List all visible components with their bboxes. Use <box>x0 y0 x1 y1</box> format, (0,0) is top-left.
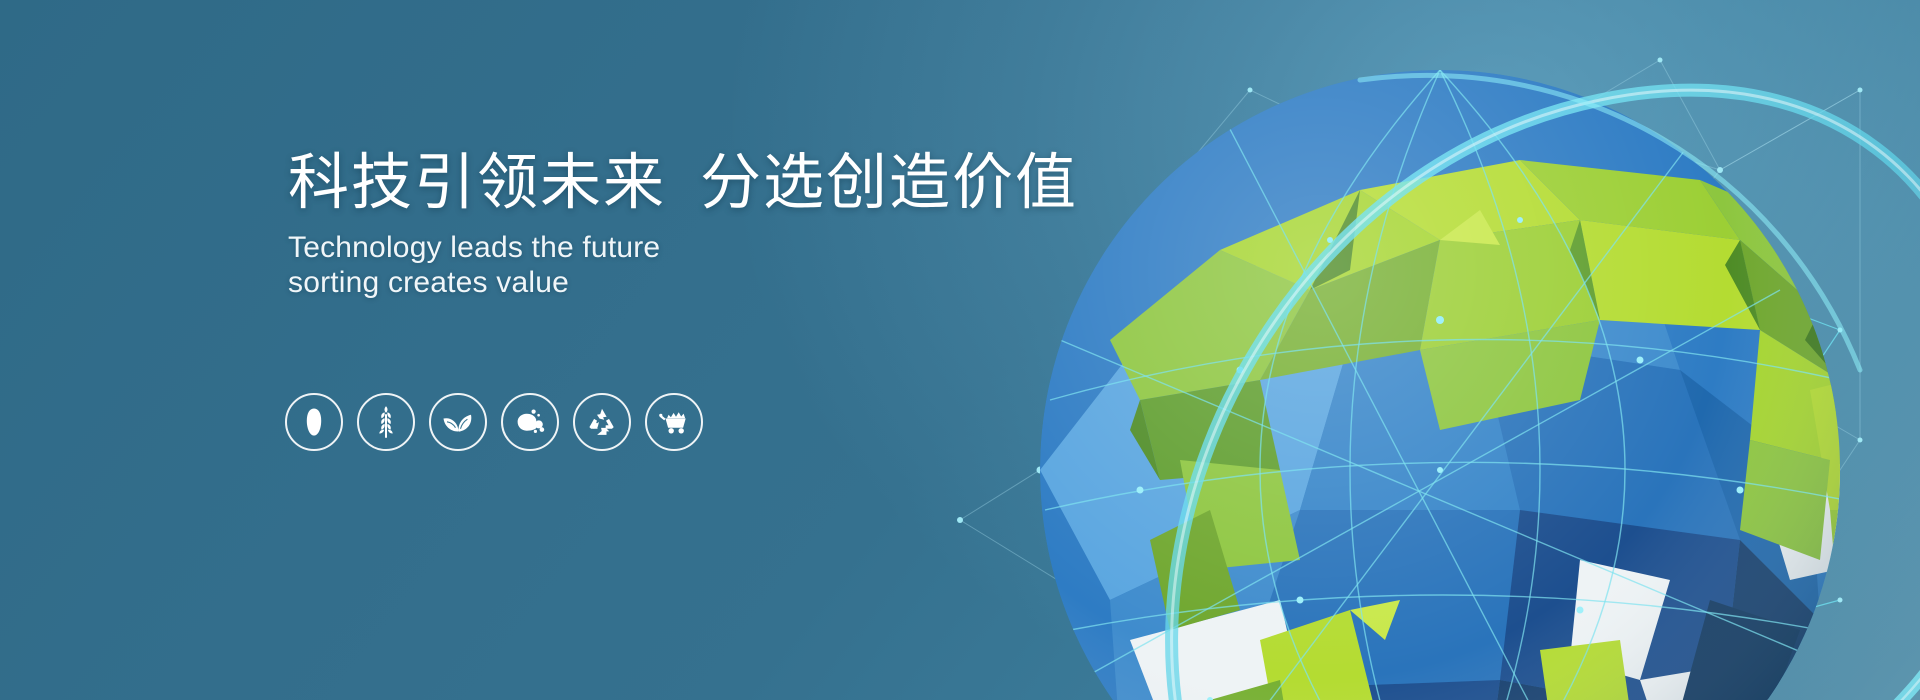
icon-chip-nut-bean[interactable] <box>501 393 559 451</box>
icon-chip-tea-leaf[interactable] <box>429 393 487 451</box>
headline-part-2: 分选创造价值 <box>700 148 1078 216</box>
icon-chip-rice-grain[interactable] <box>285 393 343 451</box>
subtitle-line-2: sorting creates value <box>288 265 1008 300</box>
subtitle-line-1: Technology leads the future <box>288 230 1008 265</box>
icon-chip-recycle[interactable] <box>573 393 631 451</box>
recycle-icon <box>587 407 617 437</box>
wheat-ear-icon <box>372 405 400 439</box>
banner-copy: 科技引领未来分选创造价值 Technology leads the future… <box>288 150 1008 300</box>
network-mesh-background <box>0 0 1920 700</box>
tea-leaf-icon <box>441 409 475 435</box>
page-subtitle: Technology leads the future sorting crea… <box>288 230 1008 300</box>
icon-chip-wheat-ear[interactable] <box>357 393 415 451</box>
low-poly-globe <box>880 40 1920 700</box>
nut-bean-icon <box>514 408 546 436</box>
hero-banner: 科技引领未来分选创造价值 Technology leads the future… <box>0 0 1920 700</box>
headline-part-1: 科技引领未来 <box>288 148 666 216</box>
icon-chip-mining-cart[interactable] <box>645 393 703 451</box>
page-title: 科技引领未来分选创造价值 <box>288 150 1008 216</box>
rice-grain-icon <box>301 407 327 437</box>
industry-icon-row <box>285 393 703 451</box>
mining-cart-icon <box>658 409 690 435</box>
